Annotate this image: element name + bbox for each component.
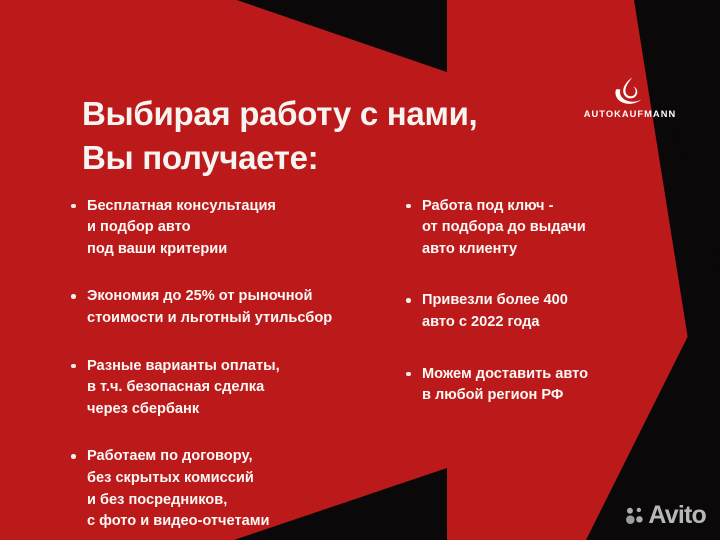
benefits-column-right: Работа под ключ - от подбора до выдачи а… xyxy=(405,181,695,437)
page-title: Выбирая работу с нами, Вы получаете: xyxy=(82,92,582,180)
promo-poster: Выбирая работу с нами, Вы получаете: AUT… xyxy=(0,0,720,540)
benefit-item: Привезли более 400 авто с 2022 года xyxy=(405,290,695,333)
benefit-item: Можем доставить авто в любой регион РФ xyxy=(405,364,695,407)
brand-wordmark: AUTOKAUFMANN xyxy=(583,110,677,119)
benefits-column-left: Бесплатная консультация и подбор авто по… xyxy=(70,181,400,533)
avito-label: Avito xyxy=(648,503,706,528)
benefit-item: Экономия до 25% от рыночной стоимости и … xyxy=(70,286,400,329)
poster-content: Выбирая работу с нами, Вы получаете: AUT… xyxy=(0,0,720,540)
flame-swoosh-emblem-icon xyxy=(613,76,647,106)
benefit-item: Работа под ключ - от подбора до выдачи а… xyxy=(405,196,695,261)
avito-dots-icon xyxy=(625,506,644,525)
benefit-item: Бесплатная консультация и подбор авто по… xyxy=(70,196,400,261)
benefit-item: Работаем по договору, без скрытых комисс… xyxy=(70,446,400,532)
avito-watermark: Avito xyxy=(625,503,706,528)
benefit-item: Разные варианты оплаты, в т.ч. безопасна… xyxy=(70,356,400,421)
brand-logo: AUTOKAUFMANN xyxy=(583,76,677,119)
